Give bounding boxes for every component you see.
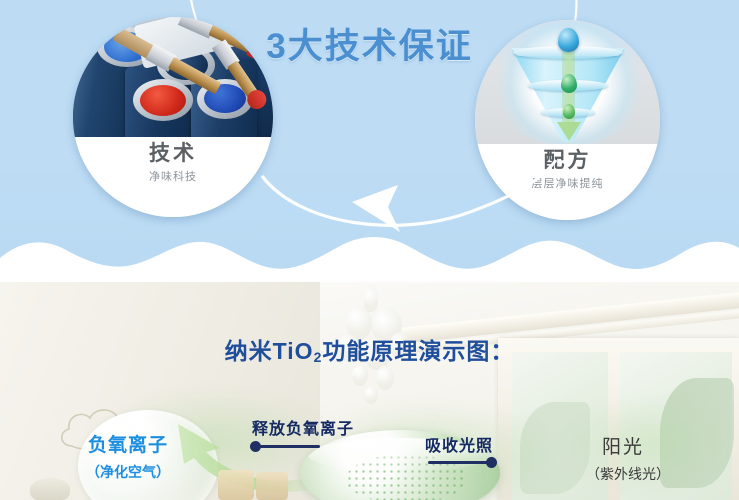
label-negative-ion: 负氧离子 (88, 430, 168, 457)
pointer-line-absorb (428, 461, 488, 464)
label-negative-ion-sub: （净化空气） (86, 462, 170, 482)
label-sunlight-sub: （紫外线光） (586, 464, 670, 484)
pointer-line-release (260, 445, 320, 448)
top-blue-panel: 3大技术保证 (0, 0, 739, 282)
label-sunlight: 阳光 (602, 432, 644, 459)
section-title-tail: 功能原理演示图： (322, 338, 514, 364)
label-release-negative-ions: 释放负氧离子 (252, 415, 354, 439)
promo-page: 3大技术保证 (0, 0, 739, 500)
floor-object (30, 478, 70, 500)
toy-block (218, 470, 254, 500)
pointer-dot-absorb (486, 457, 497, 468)
section-title: 纳米TiO2功能原理演示图： (0, 332, 739, 366)
label-absorb-light: 吸收光照 (425, 432, 493, 456)
toy-block-2 (256, 472, 288, 500)
section-title-main: 纳米TiO (225, 338, 314, 364)
section-title-subscript: 2 (314, 349, 323, 365)
wave-divider (0, 224, 739, 282)
